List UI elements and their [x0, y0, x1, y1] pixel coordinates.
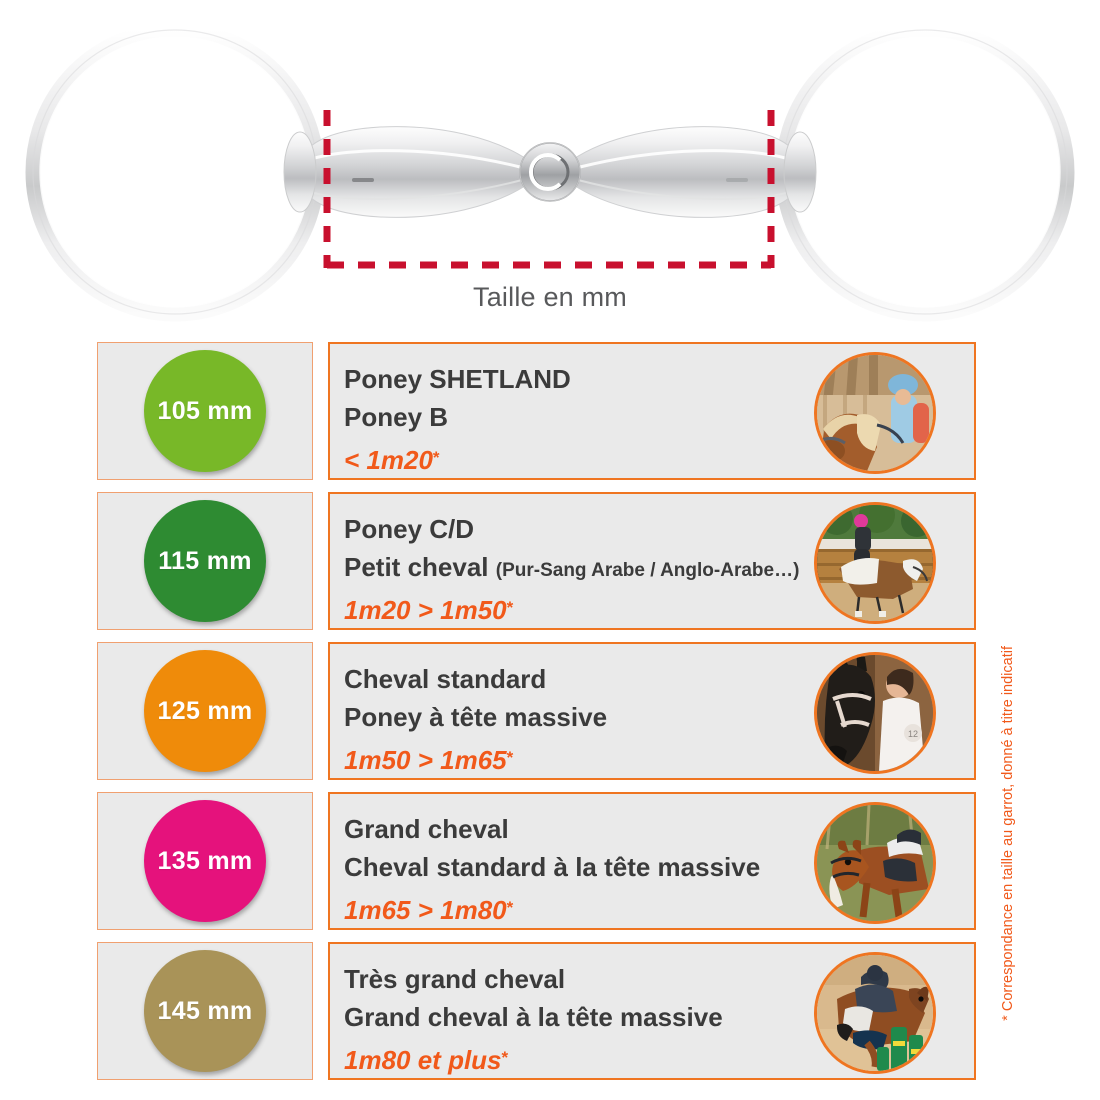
bit-ring-right [783, 30, 1067, 314]
size-badge: 105 mm [144, 350, 266, 472]
footnote-asterisk: * [502, 1048, 509, 1067]
size-label: 125 mm [158, 697, 253, 726]
size-cell: 125 mm [97, 642, 313, 780]
description-cell: Cheval standard Poney à tête massive 1m5… [328, 642, 976, 780]
photo-large-horse-in-field [814, 802, 936, 924]
description-cell: Poney SHETLAND Poney B < 1m20* [328, 342, 976, 480]
size-cell: 115 mm [97, 492, 313, 630]
table-row: 135 mm Grand cheval Cheval standard à la… [0, 786, 1100, 936]
svg-text:12: 12 [908, 729, 918, 739]
table-row: 145 mm Très grand cheval Grand cheval à … [0, 936, 1100, 1086]
size-badge: 125 mm [144, 650, 266, 772]
height-range: < 1m20 [344, 445, 433, 475]
size-cell: 135 mm [97, 792, 313, 930]
size-label: 135 mm [158, 847, 253, 876]
height-range: 1m80 et plus [344, 1045, 502, 1075]
footnote-asterisk: * [507, 598, 514, 617]
footnote-asterisk: * [507, 898, 514, 917]
category-line-2: Poney B [344, 402, 448, 432]
description-cell: Très grand cheval Grand cheval à la tête… [328, 942, 976, 1080]
height-range: 1m20 > 1m50 [344, 595, 507, 625]
table-row: 125 mm Cheval standard Poney à tête mass… [0, 636, 1100, 786]
size-label: 145 mm [158, 997, 253, 1026]
size-table: 105 mm Poney SHETLAND Poney B < 1m20* [0, 336, 1100, 1086]
size-label: 105 mm [158, 397, 253, 426]
category-line-1: Poney SHETLAND [344, 360, 834, 398]
size-badge: 135 mm [144, 800, 266, 922]
footnote-vertical-note: * Correspondance en taille au garrot, do… [1000, 646, 1016, 1021]
footnote-asterisk: * [507, 748, 514, 767]
height-range: 1m50 > 1m65 [344, 745, 507, 775]
photo-showjumping-horse [814, 952, 936, 1074]
size-cell: 105 mm [97, 342, 313, 480]
category-line-1: Poney C/D [344, 510, 834, 548]
category-line-1: Très grand cheval [344, 960, 834, 998]
category-line-1: Grand cheval [344, 810, 834, 848]
bit-ring-left [33, 30, 317, 314]
category-line-2: Grand cheval à la tête massive [344, 1002, 723, 1032]
bit-arm-left [284, 127, 528, 218]
category-line-2-note: (Pur-Sang Arabe / Anglo-Arabe…) [496, 560, 800, 581]
photo-shetland-pony-with-child [814, 352, 936, 474]
description-cell: Grand cheval Cheval standard à la tête m… [328, 792, 976, 930]
bit-arm-right [572, 127, 816, 218]
description-cell: Poney C/D Petit cheval (Pur-Sang Arabe /… [328, 492, 976, 630]
bit-illustration: Taille en mm [0, 0, 1100, 330]
table-row: 105 mm Poney SHETLAND Poney B < 1m20* [0, 336, 1100, 486]
size-badge: 115 mm [144, 500, 266, 622]
table-row: 115 mm Poney C/D Petit cheval (Pur-Sang … [0, 486, 1100, 636]
size-label: 115 mm [158, 547, 252, 576]
snaffle-bit-graphic [0, 0, 1100, 330]
photo-pony-cd-rider-arena [814, 502, 936, 624]
category-line-1: Cheval standard [344, 660, 834, 698]
measure-caption: Taille en mm [330, 282, 770, 313]
size-badge: 145 mm [144, 950, 266, 1072]
size-cell: 145 mm [97, 942, 313, 1080]
category-line-2: Poney à tête massive [344, 702, 607, 732]
bit-center-joint [520, 143, 580, 201]
category-line-2: Cheval standard à la tête massive [344, 852, 760, 882]
photo-standard-horse-with-woman: 12 [814, 652, 936, 774]
category-line-2: Petit cheval [344, 552, 489, 582]
footnote-asterisk: * [433, 448, 440, 467]
height-range: 1m65 > 1m80 [344, 895, 507, 925]
